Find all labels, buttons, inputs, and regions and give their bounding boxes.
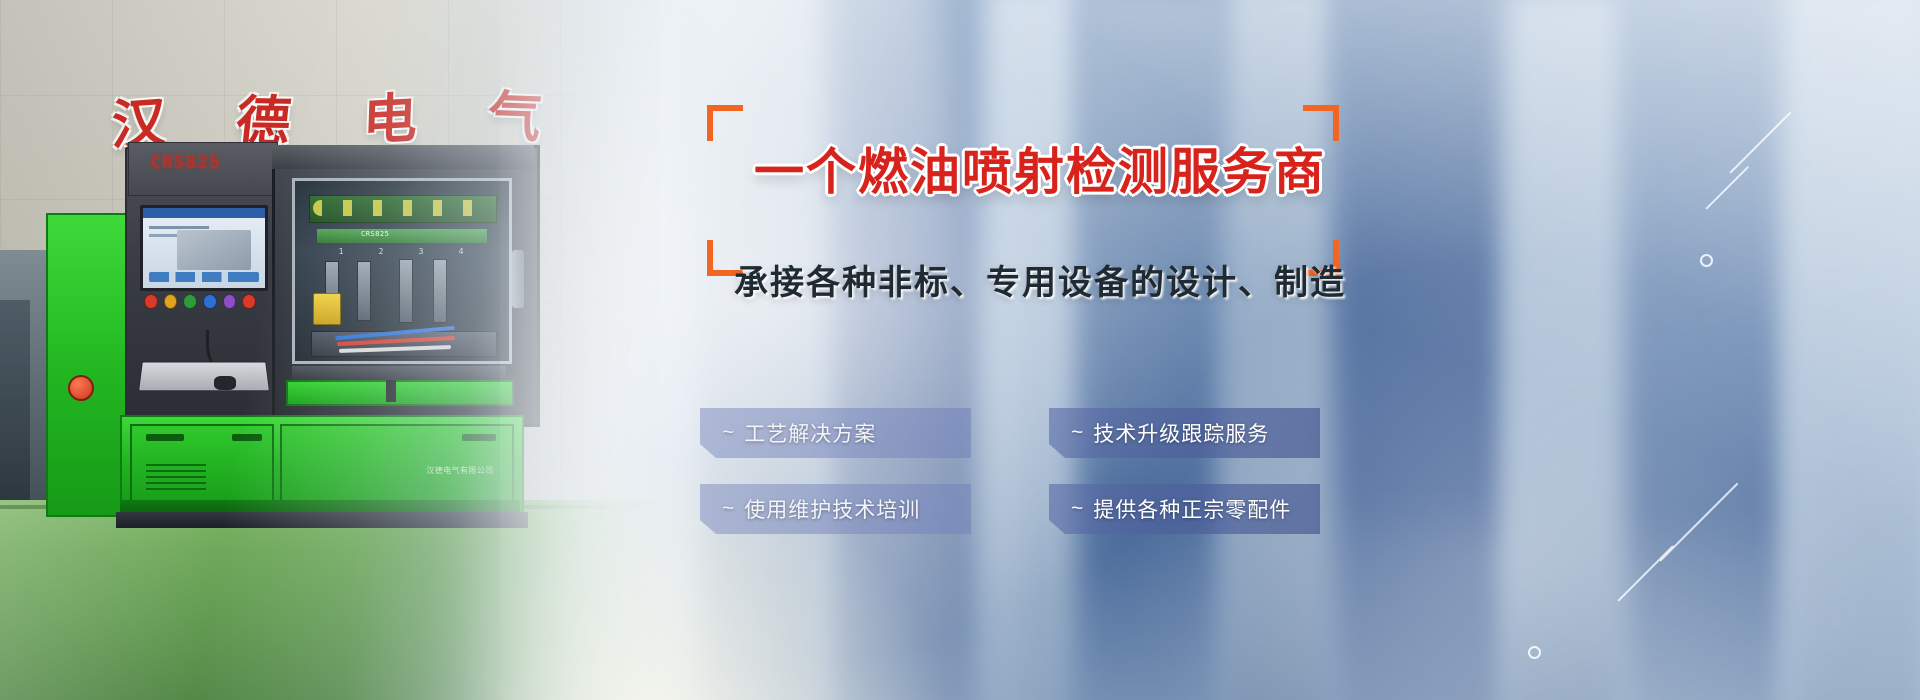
decor-circle-icon	[1528, 646, 1541, 659]
feature-tag-label: 提供各种正宗零配件	[1093, 494, 1291, 524]
tag-tilde-icon: ~	[722, 497, 735, 521]
feature-tag-row: ~ 使用维护技术培训 ~ 提供各种正宗零配件	[700, 484, 1320, 534]
feature-tag-training[interactable]: ~ 使用维护技术培训	[700, 484, 971, 534]
tag-tilde-icon: ~	[722, 421, 735, 445]
feature-tag-row: ~ 工艺解决方案 ~ 技术升级跟踪服务	[700, 408, 1320, 458]
banner-subheadline: 承接各种非标、专用设备的设计、制造	[660, 255, 1420, 304]
photo-fade-overlay	[0, 0, 660, 700]
feature-tag-group: ~ 工艺解决方案 ~ 技术升级跟踪服务 ~ 使用维护技术培训 ~ 提供各种正宗零…	[700, 408, 1320, 560]
product-photo: 汉 德 电 气 CRS825	[0, 0, 660, 700]
decor-circle-icon	[1700, 254, 1713, 267]
corner-bracket-top-right-icon	[1303, 105, 1339, 141]
corner-bracket-top-left-icon	[707, 105, 743, 141]
tag-tilde-icon: ~	[1071, 421, 1084, 445]
feature-tag-genuine-parts[interactable]: ~ 提供各种正宗零配件	[1049, 484, 1320, 534]
feature-tag-process-solution[interactable]: ~ 工艺解决方案	[700, 408, 971, 458]
hero-banner: 汉 德 电 气 CRS825	[0, 0, 1920, 700]
feature-tag-label: 技术升级跟踪服务	[1093, 418, 1269, 448]
feature-tag-label: 工艺解决方案	[744, 418, 876, 448]
tag-tilde-icon: ~	[1071, 497, 1084, 521]
feature-tag-tech-upgrade[interactable]: ~ 技术升级跟踪服务	[1049, 408, 1320, 458]
feature-tag-label: 使用维护技术培训	[744, 494, 920, 524]
banner-headline: 一个燃油喷射检测服务商	[660, 147, 1420, 197]
